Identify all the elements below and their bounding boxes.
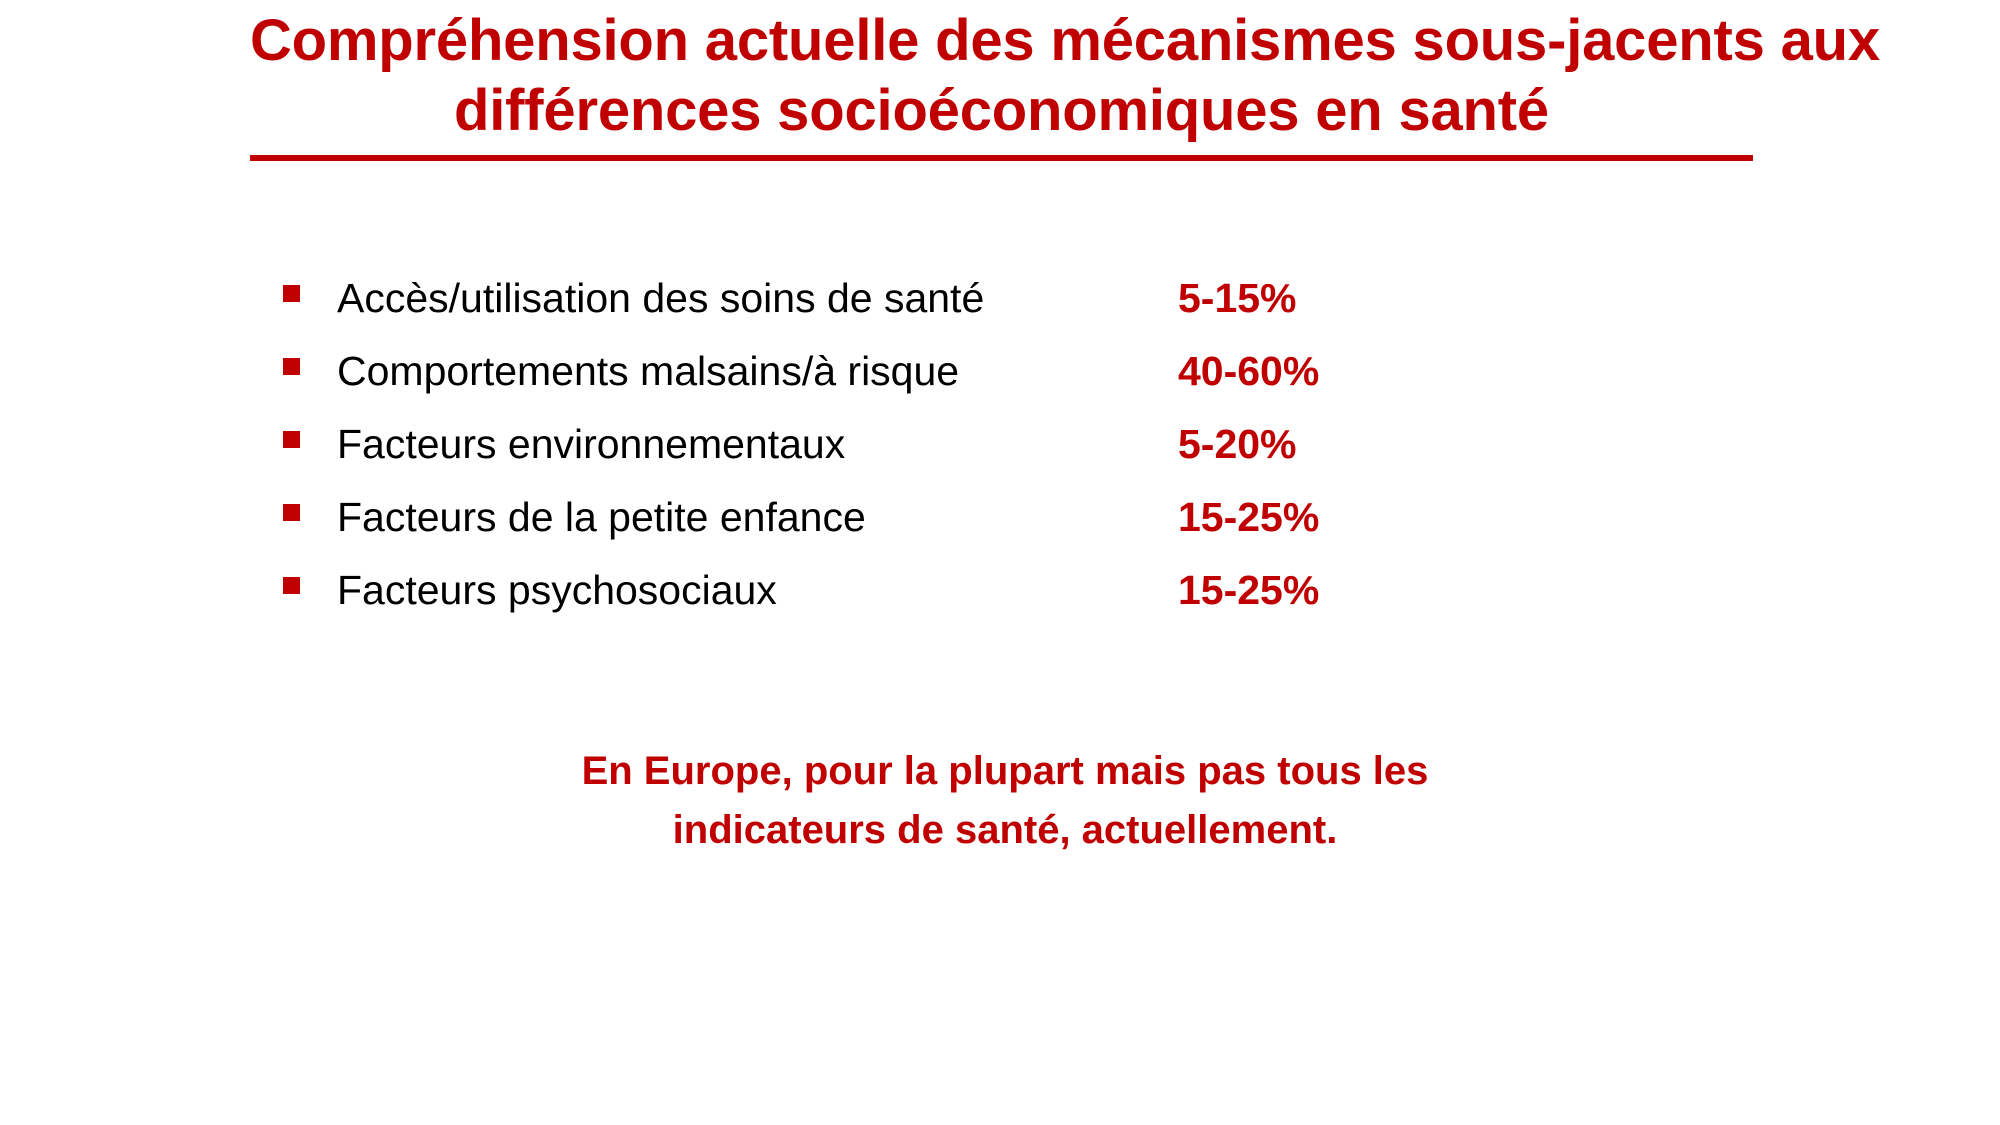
mechanism-label: Facteurs de la petite enfance bbox=[337, 491, 866, 543]
footnote-line-1: En Europe, pour la plupart mais pas tous… bbox=[405, 742, 1605, 801]
mechanism-value: 5-15% bbox=[1178, 272, 1297, 324]
square-bullet-icon bbox=[283, 285, 300, 302]
footnote: En Europe, pour la plupart mais pas tous… bbox=[405, 742, 1605, 860]
mechanisms-list: Accès/utilisation des soins de santé 5-1… bbox=[283, 272, 1683, 637]
square-bullet-icon bbox=[283, 431, 300, 448]
mechanism-label: Facteurs environnementaux bbox=[337, 418, 845, 470]
slide-canvas: Compréhension actuelle des mécanismes so… bbox=[0, 0, 2000, 1125]
list-item: Facteurs de la petite enfance 15-25% bbox=[283, 491, 1683, 564]
page-title-line-1: Compréhension actuelle des mécanismes so… bbox=[250, 6, 1753, 76]
square-bullet-icon bbox=[283, 577, 300, 594]
mechanism-value: 5-20% bbox=[1178, 418, 1297, 470]
mechanism-value: 15-25% bbox=[1178, 491, 1319, 543]
mechanism-value: 15-25% bbox=[1178, 564, 1319, 616]
list-item: Comportements malsains/à risque 40-60% bbox=[283, 345, 1683, 418]
mechanism-value: 40-60% bbox=[1178, 345, 1319, 397]
title-underline-divider bbox=[250, 155, 1753, 161]
square-bullet-icon bbox=[283, 358, 300, 375]
list-item: Accès/utilisation des soins de santé 5-1… bbox=[283, 272, 1683, 345]
page-title: Compréhension actuelle des mécanismes so… bbox=[250, 6, 1753, 146]
mechanism-label: Accès/utilisation des soins de santé bbox=[337, 272, 984, 324]
mechanism-label: Comportements malsains/à risque bbox=[337, 345, 959, 397]
square-bullet-icon bbox=[283, 504, 300, 521]
footnote-line-2: indicateurs de santé, actuellement. bbox=[405, 801, 1605, 860]
page-title-line-2: différences socioéconomiques en santé bbox=[250, 76, 1753, 146]
list-item: Facteurs psychosociaux 15-25% bbox=[283, 564, 1683, 637]
list-item: Facteurs environnementaux 5-20% bbox=[283, 418, 1683, 491]
mechanism-label: Facteurs psychosociaux bbox=[337, 564, 777, 616]
